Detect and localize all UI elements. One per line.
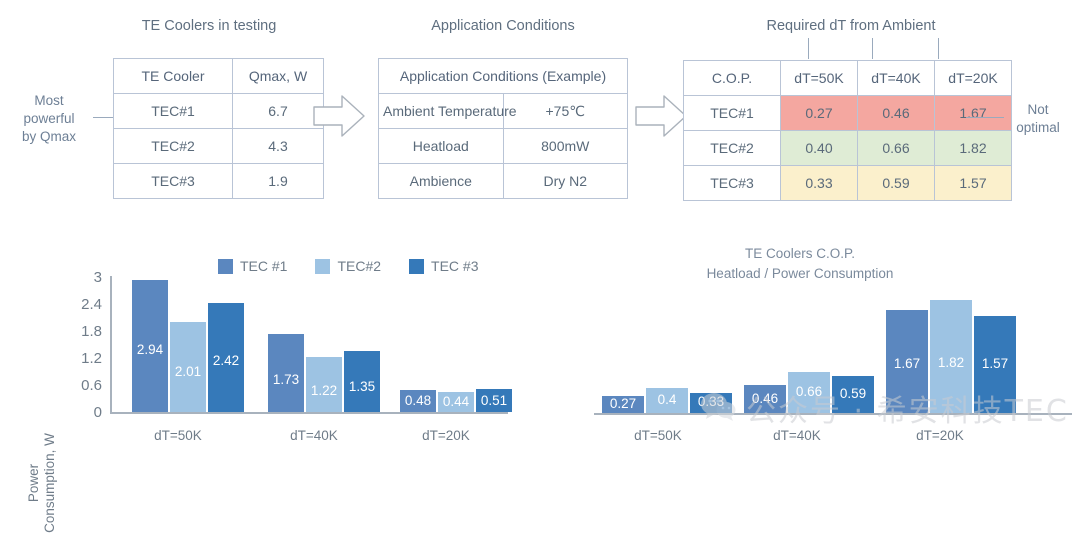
y-tick-0: 0 (60, 404, 102, 421)
bar-tec1-dt20k[interactable]: 1.67 (886, 310, 928, 414)
cell-cooler-name: TEC#1 (114, 94, 233, 129)
bar-tec2-dt50k[interactable]: 0.4 (646, 388, 688, 413)
bar-value-label: 0.59 (832, 386, 874, 401)
bar-tec3-dt20k[interactable]: 1.57 (974, 316, 1016, 413)
annotation-line-1: Most (6, 92, 92, 110)
annotation-most-powerful: Most powerful by Qmax (6, 92, 92, 147)
annotation-not-optimal: Not optimal (1002, 101, 1074, 137)
table-row: TEC#3 0.33 0.59 1.57 (684, 166, 1012, 201)
bar-tec2-dt20k[interactable]: 0.44 (438, 392, 474, 412)
section-title-required-dt: Required dT from Ambient (726, 18, 976, 34)
legend-item-tec3[interactable]: TEC #3 (409, 258, 478, 274)
cell-cop-label: TEC#3 (684, 166, 781, 201)
bar-value-label: 0.46 (744, 391, 786, 406)
bar-tec1-dt50k[interactable]: 0.27 (602, 396, 644, 413)
y-tick-1-8: 1.8 (60, 323, 102, 340)
table-row: Ambience Dry N2 (379, 164, 628, 199)
cell-cooler-name: TEC#3 (114, 164, 233, 199)
table-cop: C.O.P. dT=50K dT=40K dT=20K TEC#1 0.27 0… (683, 60, 1012, 201)
chart-title-line-1: TE Coolers C.O.P. (640, 244, 960, 264)
cell-cop-label: TEC#1 (684, 96, 781, 131)
legend-swatch-icon (315, 259, 330, 274)
bar-tec2-dt20k[interactable]: 1.82 (930, 300, 972, 413)
bar-value-label: 2.94 (132, 342, 168, 357)
cell-cop-value: 0.66 (858, 131, 935, 166)
y-tick-0-6: 0.6 (60, 377, 102, 394)
cell-cop-value: 1.67 (935, 96, 1012, 131)
cop-chart: TE Coolers C.O.P. Heatload / Power Consu… (580, 240, 1080, 454)
header-qmax: Qmax, W (233, 59, 324, 94)
bar-tec2-dt40k[interactable]: 0.66 (788, 372, 830, 413)
cell-qmax-value: 6.7 (233, 94, 324, 129)
x-tick-dt20k: dT=20K (875, 428, 1005, 443)
cell-qmax-value: 4.3 (233, 129, 324, 164)
table-row: TEC#2 4.3 (114, 129, 324, 164)
header-application-conditions: Application Conditions (Example) (379, 59, 628, 94)
x-tick-dt40k: dT=40K (254, 428, 374, 443)
bar-value-label: 0.44 (438, 394, 474, 409)
x-axis-line (594, 413, 1072, 415)
bar-value-label: 1.82 (930, 355, 972, 370)
tick-mark-dt20 (938, 38, 939, 59)
cell-qmax-value: 1.9 (233, 164, 324, 199)
tick-mark-dt50 (808, 38, 809, 59)
legend-swatch-icon (409, 259, 424, 274)
bar-tec3-dt50k[interactable]: 0.33 (690, 393, 732, 414)
bar-value-label: 0.27 (602, 396, 644, 411)
bar-tec2-dt40k[interactable]: 1.22 (306, 357, 342, 412)
y-axis-label-line-1: Power (26, 424, 42, 542)
bar-value-label: 2.42 (208, 353, 244, 368)
table-row: Heatload 800mW (379, 129, 628, 164)
bar-value-label: 1.73 (268, 372, 304, 387)
y-axis-label-line-2: Consumption, W (42, 424, 58, 542)
tick-mark-dt40 (872, 38, 873, 59)
bar-value-label: 0.33 (690, 394, 732, 409)
bar-value-label: 1.35 (344, 379, 380, 394)
cell-cop-value: 1.57 (935, 166, 1012, 201)
x-tick-dt40k: dT=40K (732, 428, 862, 443)
table-row: TEC#1 0.27 0.46 1.67 (684, 96, 1012, 131)
flow-arrow-1 (312, 93, 366, 139)
x-axis-line (110, 412, 508, 414)
x-tick-dt20k: dT=20K (386, 428, 506, 443)
header-cop: C.O.P. (684, 61, 781, 96)
legend-item-tec1[interactable]: TEC #1 (218, 258, 287, 274)
cell-cop-value: 0.27 (781, 96, 858, 131)
legend-label: TEC #3 (431, 258, 478, 274)
bar-value-label: 0.4 (646, 392, 688, 407)
leader-line-not-optimal (966, 117, 1004, 118)
bar-tec2-dt50k[interactable]: 2.01 (170, 322, 206, 412)
x-tick-dt50k: dT=50K (118, 428, 238, 443)
cell-cop-value: 0.46 (858, 96, 935, 131)
bar-tec3-dt40k[interactable]: 1.35 (344, 351, 380, 412)
bar-tec3-dt50k[interactable]: 2.42 (208, 303, 244, 412)
header-te-cooler: TE Cooler (114, 59, 233, 94)
cell-cooler-name: TEC#2 (114, 129, 233, 164)
bar-tec1-dt20k[interactable]: 0.48 (400, 390, 436, 412)
bar-tec1-dt50k[interactable]: 2.94 (132, 280, 168, 412)
bar-tec3-dt20k[interactable]: 0.51 (476, 389, 512, 412)
annotation-line-2: powerful (6, 110, 92, 128)
annotation-line-2: optimal (1002, 119, 1074, 137)
cell-condition-name: Ambience (379, 164, 504, 199)
bar-value-label: 0.48 (400, 393, 436, 408)
bar-value-label: 1.57 (974, 356, 1016, 371)
bar-tec3-dt40k[interactable]: 0.59 (832, 376, 874, 413)
plot-area: 0.27 0.4 0.33 0.46 0.66 0.59 1.67 1.82 1… (594, 273, 1072, 413)
cell-cop-value: 0.33 (781, 166, 858, 201)
legend-label: TEC #1 (240, 258, 287, 274)
legend-label: TEC#2 (337, 258, 381, 274)
table-row: Ambient Temperature +75℃ (379, 94, 628, 129)
cell-condition-value: +75℃ (503, 94, 628, 129)
leader-line-most-powerful (93, 117, 115, 118)
bar-tec1-dt40k[interactable]: 0.46 (744, 385, 786, 414)
table-row: TEC#2 0.40 0.66 1.82 (684, 131, 1012, 166)
bar-value-label: 0.51 (476, 393, 512, 408)
cell-condition-name: Ambient Temperature (379, 94, 504, 129)
table-row-header: Application Conditions (Example) (379, 59, 628, 94)
header-dt50k: dT=50K (781, 61, 858, 96)
y-tick-2-4: 2.4 (60, 296, 102, 313)
annotation-line-1: Not (1002, 101, 1074, 119)
cell-cop-value: 0.40 (781, 131, 858, 166)
bar-value-label: 0.66 (788, 384, 830, 399)
cell-cop-label: TEC#2 (684, 131, 781, 166)
cell-cop-value: 1.82 (935, 131, 1012, 166)
table-application-conditions: Application Conditions (Example) Ambient… (378, 58, 628, 199)
header-dt40k: dT=40K (858, 61, 935, 96)
table-row: TEC#1 6.7 (114, 94, 324, 129)
section-title-coolers: TE Coolers in testing (113, 18, 305, 34)
annotation-line-3: by Qmax (6, 128, 92, 146)
y-tick-1-2: 1.2 (60, 350, 102, 367)
table-te-coolers: TE Cooler Qmax, W TEC#1 6.7 TEC#2 4.3 TE… (113, 58, 324, 199)
table-row-header: C.O.P. dT=50K dT=40K dT=20K (684, 61, 1012, 96)
cell-condition-value: 800mW (503, 129, 628, 164)
flow-arrow-2 (634, 93, 688, 139)
table-row: TEC#3 1.9 (114, 164, 324, 199)
bar-tec1-dt40k[interactable]: 1.73 (268, 334, 304, 412)
power-consumption-chart: TEC #1 TEC#2 TEC #3 Power Consumption, W… (0, 240, 540, 454)
x-tick-dt50k: dT=50K (593, 428, 723, 443)
header-dt20k: dT=20K (935, 61, 1012, 96)
legend-swatch-icon (218, 259, 233, 274)
table-row-header: TE Cooler Qmax, W (114, 59, 324, 94)
section-title-conditions: Application Conditions (378, 18, 628, 34)
cell-cop-value: 0.59 (858, 166, 935, 201)
bar-value-label: 1.67 (886, 356, 928, 371)
cell-condition-value: Dry N2 (503, 164, 628, 199)
bar-value-label: 1.22 (306, 383, 342, 398)
bar-value-label: 2.01 (170, 364, 206, 379)
y-tick-3: 3 (60, 269, 102, 286)
plot-area: 2.94 2.01 2.42 1.73 1.22 1.35 0.48 0.44 … (110, 277, 508, 412)
cell-condition-name: Heatload (379, 129, 504, 164)
chart-legend: TEC #1 TEC#2 TEC #3 (218, 258, 501, 274)
legend-item-tec2[interactable]: TEC#2 (315, 258, 381, 274)
